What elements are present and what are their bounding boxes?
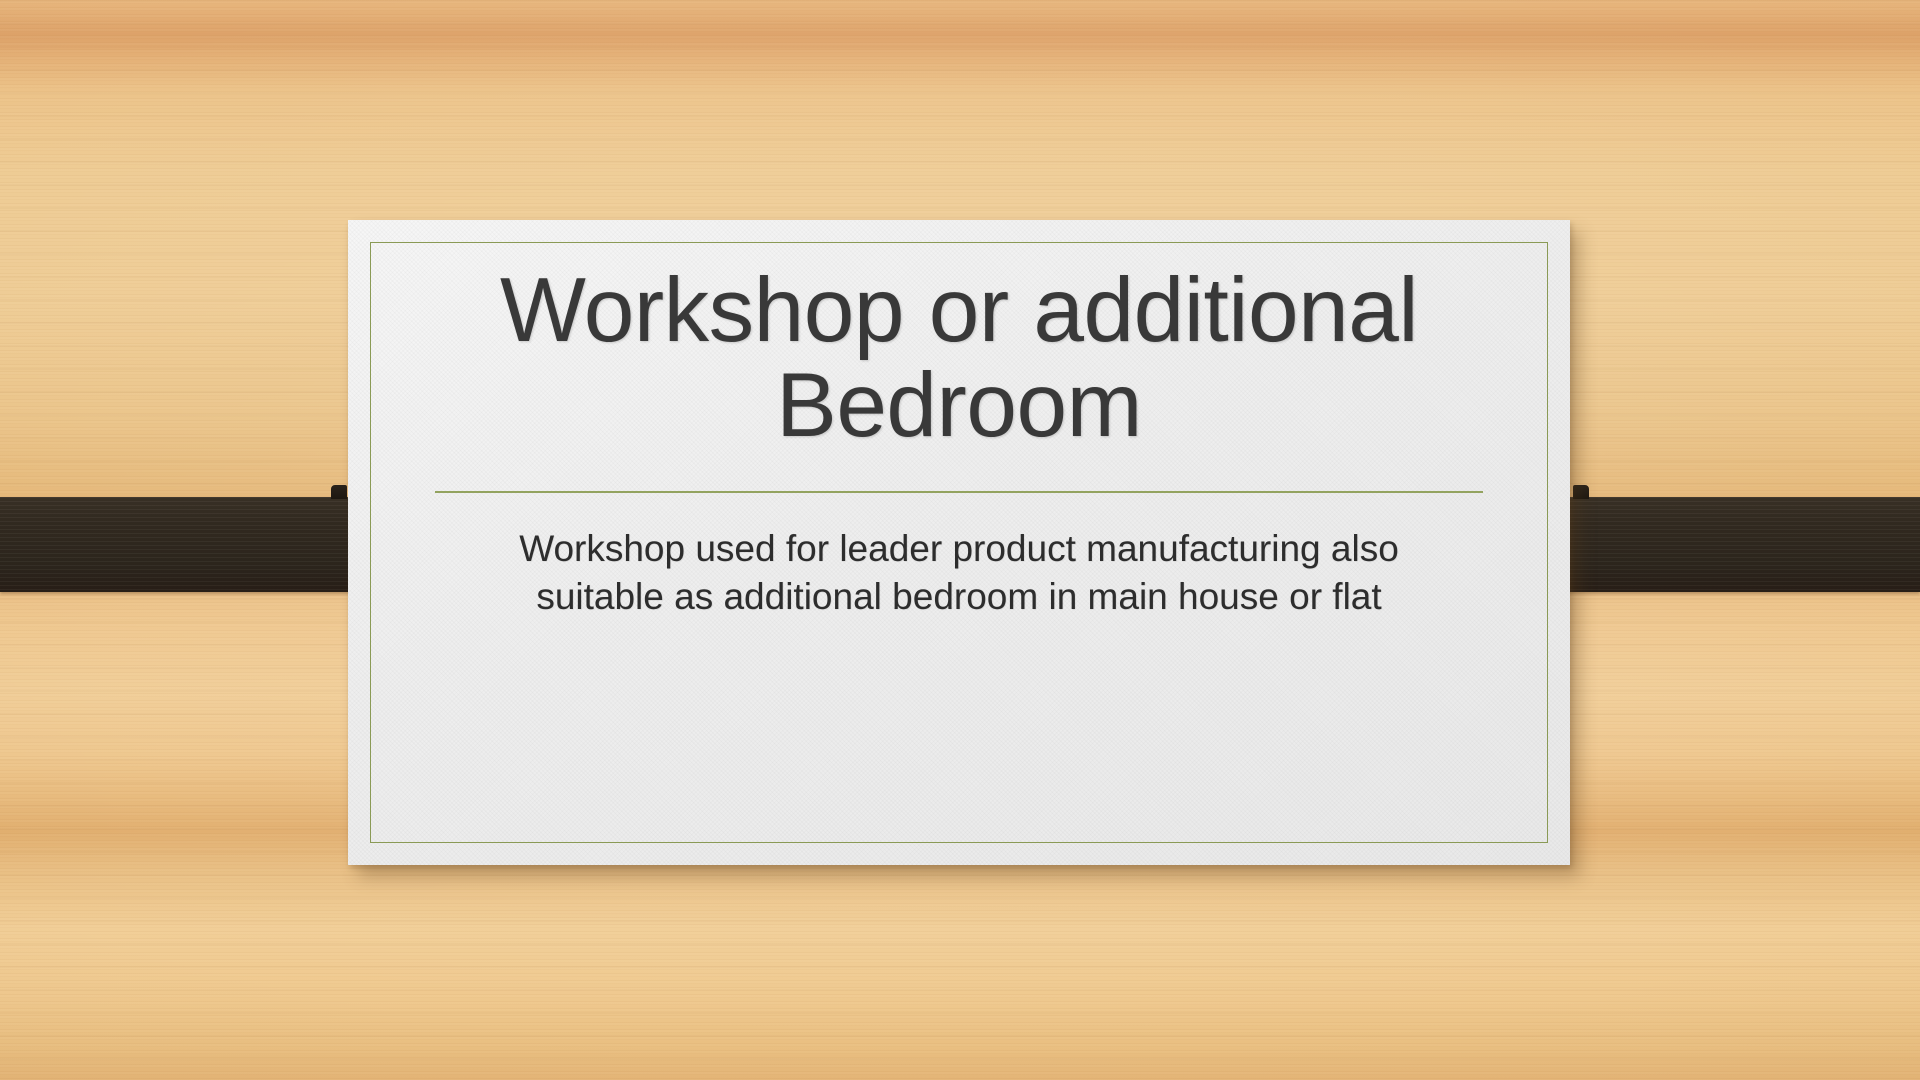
presentation-slide: Workshop or additional Bedroom Workshop … [0, 0, 1920, 1080]
slide-title: Workshop or additional Bedroom [417, 242, 1501, 453]
title-card: Workshop or additional Bedroom Workshop … [348, 220, 1570, 865]
slide-content: Workshop or additional Bedroom Workshop … [370, 242, 1548, 843]
ribbon-notch-right [1573, 485, 1589, 499]
ribbon-notch-left [331, 485, 347, 499]
slide-subtitle: Workshop used for leader product manufac… [452, 493, 1465, 620]
